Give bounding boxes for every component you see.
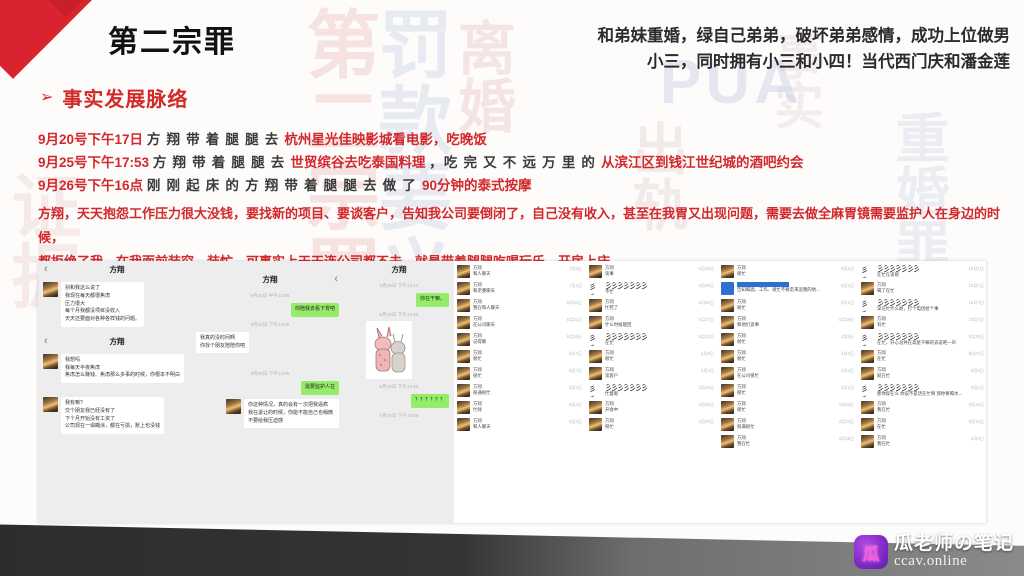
avatar bbox=[43, 282, 58, 297]
message-list-3[interactable]: 方翔很忙5月1日告知喝酒、工作、很忙不要走来追我的地...5月1日方翔很忙5月1… bbox=[718, 261, 858, 523]
timeline-middle: 刚 刚 起 床 的 方 翔 带 着 腿 腿 去 做 了 bbox=[147, 178, 422, 193]
list-item-date: 5月9日 bbox=[701, 350, 714, 357]
list-item[interactable]: 彡彡彡彡彡彡彡彡彡忙着呢4月28日 bbox=[586, 382, 718, 399]
timeline-row: 9月20号下午17日 方 翔 带 着 腿 腿 去 杭州星光佳映影城看电影，吃晚饭 bbox=[38, 128, 998, 151]
list-item-body: 方翔很忙 bbox=[737, 350, 838, 362]
list-item[interactable]: 方翔喝了在忙10月7日 bbox=[858, 280, 986, 297]
list-item[interactable]: 方翔很忙6月7日 bbox=[454, 348, 586, 365]
list-item-body: 方翔我在忙 bbox=[737, 435, 836, 447]
list-item-preview: 谈事 bbox=[605, 271, 696, 277]
list-item-body: 方翔喝了在忙 bbox=[877, 282, 966, 294]
timeline-middle: 方 翔 带 着 腿 腿 去 bbox=[153, 155, 291, 170]
list-item[interactable]: 方翔开会中4月25日 bbox=[586, 399, 718, 416]
list-item-body: 彡彡彡彡彡彡彡那你现在么 你说不是话在忙啊 那你要喝水... bbox=[877, 384, 968, 397]
list-item-body: 方翔谈事 bbox=[605, 265, 696, 277]
list-item-body: 方翔很忙 bbox=[737, 333, 838, 345]
list-item[interactable]: 方翔和老婆聊天7月1日 bbox=[454, 280, 586, 297]
list-item-date: 10月7日 bbox=[969, 282, 984, 289]
subtitle-line-2: 小三，同时拥有小三和小四！当代西门庆和潘金莲 bbox=[505, 50, 1010, 76]
avatar bbox=[457, 350, 470, 363]
list-item-preview: 早在忙什么呢，打个电话给个事 bbox=[877, 306, 966, 312]
list-item-date: 5月3日 bbox=[701, 367, 714, 374]
list-item-preview: 很忙 bbox=[737, 271, 838, 277]
list-item-body: 彡彡彡彡彡彡彡忙着呢 bbox=[605, 384, 696, 397]
section-heading: ➢ 事实发展脉络 bbox=[40, 83, 188, 112]
avatar bbox=[43, 354, 58, 369]
list-item-body: 方翔有忙 bbox=[877, 316, 966, 328]
list-item-preview: 在忙，开心总共在高星干嘛的去说吧一声 bbox=[877, 340, 966, 346]
list-item-body: 方翔在忙 bbox=[877, 350, 966, 362]
chat-screenshot-2: ‹ 方翔 9月26日 中午12:56 你陪我去看下胃吧 9月26日 下午13:0… bbox=[196, 261, 344, 523]
chat-contact-name: 方翔 bbox=[110, 264, 125, 275]
chat-header-2: ‹ 方翔 bbox=[196, 271, 344, 288]
list-item-date: 5月12日 bbox=[699, 333, 714, 340]
list-item-date: 10月1日 bbox=[969, 265, 984, 272]
list-item[interactable]: 方翔很忙6月7日 bbox=[454, 365, 586, 382]
avatar bbox=[861, 401, 874, 414]
list-item-body: 方翔记得聊 bbox=[473, 333, 564, 345]
list-item-body: 告知喝酒、工作、很忙不要走来追我的地... bbox=[737, 282, 838, 293]
chat-message: 你这种情况，真的会有一次把我逼疯 我在退让的时候，你能不能自己也稍微不要给我压迫… bbox=[226, 399, 339, 428]
message-bubble: 需要监护人在 bbox=[301, 381, 339, 395]
message-bubble: 我想吗 我每天半夜焦虑 焦虑怎么赚钱、焦虑那么多事的时候，你根本不明白 bbox=[61, 354, 184, 383]
avatar bbox=[861, 282, 874, 295]
list-item[interactable]: 方翔很忙4月1日 bbox=[718, 382, 858, 399]
chat-message: 你在干嘛。 bbox=[349, 293, 449, 307]
list-item-preview: 很忙 bbox=[737, 339, 838, 345]
list-item-preview: 很忙 bbox=[473, 356, 566, 362]
page-title: 第二宗罪 bbox=[108, 17, 236, 61]
sticker-image bbox=[366, 321, 412, 379]
list-item-body: 方翔很忙 bbox=[737, 401, 836, 413]
avatar bbox=[721, 435, 734, 448]
timeline-highlight-2: 从滨江区到钱江世纪城的酒吧约会 bbox=[601, 155, 804, 170]
list-item-date: 3月28日 bbox=[839, 401, 854, 408]
list-item-preview: 很忙 bbox=[737, 407, 836, 413]
message-timestamp: 9月26日 下午14:40 bbox=[344, 384, 454, 390]
list-item[interactable]: 方翔什么时候能回5月17日 bbox=[586, 314, 718, 331]
list-item-preview: 很忙 bbox=[605, 424, 696, 430]
list-item-preview: 我在和人聊天 bbox=[473, 305, 564, 311]
paragraph-line-1: 方翔，天天抱怨工作压力很大没钱，要找新的项目、要谈客户，告知我公司要倒闭了，自己… bbox=[38, 202, 1006, 250]
avatar bbox=[721, 367, 734, 380]
avatar bbox=[861, 367, 874, 380]
list-item[interactable]: 方翔忙死了5月22日 bbox=[586, 297, 718, 314]
avatar bbox=[721, 282, 734, 295]
slide-root: 第二宗罪 罚款要义 离婚 出轨 重婚罪 证据 事实 PUA 第二宗罪 和弟妹重婚… bbox=[0, 0, 1024, 576]
timeline-list: 9月20号下午17日 方 翔 带 着 腿 腿 去 杭州星光佳映影城看电影，吃晚饭… bbox=[38, 128, 998, 198]
list-item[interactable]: 告知喝酒、工作、很忙不要走来追我的地...5月1日 bbox=[718, 280, 858, 297]
list-item-preview: 告知喝酒、工作、很忙不要走来追我的地... bbox=[737, 287, 838, 293]
message-list-2[interactable]: 方翔谈事5月28日彡彡彡彡彡彡彡彡彡不忙5月25日方翔忙死了5月22日方翔什么时… bbox=[586, 261, 718, 523]
message-timestamp: 9月26日 下午13:06 bbox=[196, 322, 344, 328]
chat-contact-name: 方翔 bbox=[392, 264, 407, 275]
list-item-body: 彡彡彡彡彡彡彡不忙 bbox=[605, 282, 696, 295]
list-item-date: 4月25日 bbox=[699, 401, 714, 408]
list-item-date: 6月7日 bbox=[569, 350, 582, 357]
list-item-body: 彡彡彡彡彡彡彡在忙在谈呢 bbox=[877, 265, 966, 278]
avatar bbox=[457, 265, 470, 278]
avatar bbox=[721, 299, 734, 312]
avatar bbox=[589, 418, 602, 431]
avatar: 彡彡 bbox=[861, 384, 874, 397]
logo-name: 瓜老师の笔记 bbox=[894, 534, 1014, 554]
list-item-body: 方翔我在和人聊天 bbox=[473, 299, 564, 311]
arrow-bullet-icon: ➢ bbox=[40, 90, 53, 106]
list-item-date: 8月16日 bbox=[969, 401, 984, 408]
logo-text: 瓜老师の笔记 ccav.online bbox=[894, 534, 1014, 570]
avatar: 彡彡 bbox=[589, 282, 602, 295]
list-item-body: 方翔和老婆聊天 bbox=[473, 282, 566, 294]
chat-message: 我想吗 我每天半夜焦虑 焦虑怎么赚钱、焦虑那么多事的时候，你根本不明白 bbox=[43, 354, 191, 383]
diamond-shape-large bbox=[0, 0, 105, 79]
list-item-body: 彡彡彡彡彡彡彡早在忙什么呢，打个电话给个事 bbox=[877, 299, 966, 312]
avatar bbox=[721, 265, 734, 278]
list-item-body: 方翔很忙 bbox=[605, 350, 698, 362]
list-item[interactable]: 方翔谈客户5月3日 bbox=[586, 365, 718, 382]
avatar bbox=[589, 401, 602, 414]
timeline-row: 9月25号下午17:53 方 翔 带 着 腿 腿 去 世贸缤谷去吃泰国料理 ，吃… bbox=[38, 151, 998, 174]
list-item-body: 方翔很忙 bbox=[737, 299, 838, 311]
list-item[interactable]: 方翔有忙10月7日 bbox=[858, 314, 986, 331]
list-item-preview: 和人聊天 bbox=[473, 424, 566, 430]
list-item-preview: 在忙 bbox=[877, 424, 966, 430]
list-item[interactable]: 方翔我在和人聊天6月30日 bbox=[454, 297, 586, 314]
list-item[interactable]: 彡彡彡彡彡彡彡彡彡早在忙什么呢，打个电话给个事10月7日 bbox=[858, 297, 986, 314]
list-item-date: 5月28日 bbox=[699, 265, 714, 272]
list-item-date: 6月4日 bbox=[569, 384, 582, 391]
list-item-body: 方翔在忙 bbox=[877, 418, 966, 430]
list-item-body: 方翔和他们谈事 bbox=[737, 316, 836, 328]
chat-screenshot-1: ‹ 方翔 别和我这么说了 我现在每天都很焦虑 压力很大 每个月我都没项目没收入 … bbox=[38, 261, 196, 523]
list-item-body: 方翔很忙 bbox=[737, 265, 838, 277]
avatar bbox=[589, 316, 602, 329]
list-item-preview: 在公司聊天 bbox=[473, 322, 564, 328]
list-item-preview: 喝了在忙 bbox=[877, 288, 966, 294]
avatar bbox=[457, 367, 470, 380]
avatar bbox=[721, 316, 734, 329]
list-item-date: 9月1日 bbox=[971, 384, 984, 391]
list-item-date: 4月20日 bbox=[699, 418, 714, 425]
list-item-preview: 很忙 bbox=[737, 356, 838, 362]
message-bubble: 别和我这么说了 我现在每天都很焦虑 压力很大 每个月我都没项目没收入 天天还要面… bbox=[61, 282, 144, 327]
list-item-body: 方翔开会中 bbox=[605, 401, 696, 413]
avatar bbox=[721, 401, 734, 414]
list-item-date: 6月16日 bbox=[567, 333, 582, 340]
avatar bbox=[589, 265, 602, 278]
list-item-body: 方翔在公司聊天 bbox=[473, 316, 564, 328]
timeline-highlight: 杭州星光佳映影城看电影，吃晚饭 bbox=[284, 132, 487, 147]
avatar bbox=[457, 384, 470, 397]
list-item[interactable]: 彡彡彡彡彡彡彡彡彡在忙在谈呢10月1日 bbox=[858, 263, 986, 280]
avatar bbox=[861, 418, 874, 431]
list-item-body: 方翔很忙 bbox=[737, 384, 838, 396]
avatar bbox=[721, 418, 734, 431]
list-item-preview: 很满很忙 bbox=[737, 424, 836, 430]
list-item-date: 4月19日 bbox=[839, 316, 854, 323]
avatar bbox=[861, 350, 874, 363]
avatar bbox=[457, 333, 470, 346]
list-item-preview: 很通很忙 bbox=[473, 390, 566, 396]
list-item-date: 10月7日 bbox=[969, 316, 984, 323]
timeline-date: 9月25号下午17:53 bbox=[38, 155, 149, 170]
avatar bbox=[589, 299, 602, 312]
chat-contact-name: 方翔 bbox=[263, 274, 278, 285]
list-item[interactable]: 方翔忙碌6月4日 bbox=[454, 399, 586, 416]
chat-message: ？？？？？？ bbox=[349, 394, 449, 408]
avatar bbox=[457, 316, 470, 329]
list-item[interactable]: 方翔很忙5月1日 bbox=[718, 263, 858, 280]
list-item-preview: 我在忙 bbox=[877, 407, 966, 413]
chat-header-1: ‹ 方翔 bbox=[38, 261, 196, 278]
message-timestamp: 9月26日 中午12:56 bbox=[196, 293, 344, 299]
list-item[interactable]: 方翔在公司聊天6月21日 bbox=[454, 314, 586, 331]
list-item-date: 8月3日 bbox=[971, 435, 984, 442]
chat-message: 我真的没时间啊 你找个朋友陪陪你吧 bbox=[196, 332, 339, 354]
avatar bbox=[721, 333, 734, 346]
chat-message: 我有嘛? 交个朋友我已经没有了 下个月开始没有工资了 公司现在一塌糊涂，都在亏损… bbox=[43, 397, 191, 434]
list-item-preview: 就在忙 bbox=[877, 373, 968, 379]
list-item-date: 6月7日 bbox=[569, 367, 582, 374]
list-item-body: 方翔在公司很忙 bbox=[737, 367, 838, 379]
list-item[interactable]: 方翔在忙9月27日 bbox=[858, 348, 986, 365]
list-item-date: 8月10日 bbox=[969, 418, 984, 425]
list-item[interactable]: 彡彡彡彡彡彡彡彡彡不忙5月25日 bbox=[586, 280, 718, 297]
list-item-preview: 在忙在谈呢 bbox=[877, 272, 966, 278]
list-item-date: 9月9日 bbox=[971, 367, 984, 374]
avatar: 彡彡 bbox=[861, 265, 874, 278]
chat-contact-name: 方翔 bbox=[110, 336, 125, 347]
list-item[interactable]: 方翔和人聊天7月6日 bbox=[454, 263, 586, 280]
timeline-row: 9月26号下午16点 刚 刚 起 床 的 方 翔 带 着 腿 腿 去 做 了 9… bbox=[38, 174, 998, 197]
list-item-body: 方翔很忙 bbox=[605, 418, 696, 430]
list-item-date: 5月17日 bbox=[699, 316, 714, 323]
avatar bbox=[226, 399, 241, 414]
list-item-body: 方翔很满很忙 bbox=[737, 418, 836, 430]
message-list-4[interactable]: 彡彡彡彡彡彡彡彡彡在忙在谈呢10月1日方翔喝了在忙10月7日彡彡彡彡彡彡彡彡彡早… bbox=[858, 261, 986, 523]
list-item-preview: 那你现在么 你说不是话在忙啊 那你要喝水... bbox=[877, 391, 968, 397]
avatar bbox=[457, 282, 470, 295]
list-item-body: 方翔什么时候能回 bbox=[605, 316, 696, 328]
list-item-preview: 谈客户 bbox=[605, 373, 698, 379]
list-item-body: 彡彡彡彡彡彡彡在忙，开心总共在高星干嘛的去说吧一声 bbox=[877, 333, 966, 346]
page-subtitle: 和弟妹重婚，绿自己弟弟，破坏弟弟感情，成功上位做男 小三，同时拥有小三和小四！当… bbox=[505, 24, 1010, 75]
list-item-date: 7月1日 bbox=[569, 282, 582, 289]
list-item-body: 彡彡彡彡彡彡彡在忙 bbox=[605, 333, 696, 346]
logo-url: ccav.online bbox=[894, 554, 1014, 570]
list-item-preview: 和老婆聊天 bbox=[473, 288, 566, 294]
list-item[interactable]: 方翔和人聊天6月4日 bbox=[454, 416, 586, 433]
message-timestamp: 9月26日 下午13:06 bbox=[196, 371, 344, 377]
timeline-tail: ，吃 完 又 不 远 万 里 的 bbox=[429, 155, 601, 170]
message-timestamp: 9月26日 下午14:40 bbox=[344, 312, 454, 318]
avatar bbox=[457, 418, 470, 431]
avatar bbox=[861, 316, 874, 329]
chat-message: 需要监护人在 bbox=[201, 381, 339, 395]
message-bubble: ？？？？？？ bbox=[411, 394, 449, 408]
list-item-body: 方翔和人聊天 bbox=[473, 265, 566, 277]
list-item-preview: 和他们谈事 bbox=[737, 322, 836, 328]
avatar: 彡彡 bbox=[861, 333, 874, 346]
list-item-preview: 很忙 bbox=[737, 390, 838, 396]
timeline-highlight: 世贸缤谷去吃泰国料理 bbox=[290, 155, 425, 170]
background-watermark-text: 离婚 bbox=[452, 18, 510, 134]
list-item[interactable]: 方翔我在忙8月16日 bbox=[858, 399, 986, 416]
list-item-date: 6月4日 bbox=[569, 401, 582, 408]
message-bubble: 你陪我去看下胃吧 bbox=[291, 303, 339, 317]
list-item[interactable]: 方翔很忙5月9日 bbox=[586, 348, 718, 365]
back-chevron-icon[interactable]: ‹ bbox=[44, 335, 48, 347]
list-item-preview: 我在忙 bbox=[877, 441, 968, 447]
list-item-preview: 记得聊 bbox=[473, 339, 564, 345]
list-item-date: 3月19日 bbox=[839, 435, 854, 442]
list-item[interactable]: 方翔谈事5月28日 bbox=[586, 263, 718, 280]
list-item-date: 4月3日 bbox=[841, 350, 854, 357]
list-item-preview: 忙碌 bbox=[473, 407, 566, 413]
list-item[interactable]: 彡彡彡彡彡彡彡彡彡那你现在么 你说不是话在忙啊 那你要喝水...9月1日 bbox=[858, 382, 986, 399]
timeline-highlight: 90分钟的泰式按摩 bbox=[422, 178, 532, 193]
list-item[interactable]: 彡彡彡彡彡彡彡彡彡在忙5月12日 bbox=[586, 331, 718, 348]
avatar bbox=[589, 367, 602, 380]
list-item-date: 9月27日 bbox=[969, 350, 984, 357]
list-item-preview: 什么时候能回 bbox=[605, 322, 696, 328]
list-item[interactable]: 方翔很忙4月20日 bbox=[586, 416, 718, 433]
message-bubble: 我有嘛? 交个朋友我已经没有了 下个月开始没有工资了 公司现在一塌糊涂，都在亏损… bbox=[61, 397, 164, 434]
evidence-card: ‹ 方翔 别和我这么说了 我现在每天都很焦虑 压力很大 每个月我都没项目没收入 … bbox=[38, 261, 986, 523]
message-bubble: 我真的没时间啊 你找个朋友陪陪你吧 bbox=[196, 332, 249, 354]
list-item-preview: 很忙 bbox=[737, 305, 838, 311]
list-item[interactable]: 方翔很忙5月1日 bbox=[718, 297, 858, 314]
message-timestamp: 9月26日 下午15:06 bbox=[344, 413, 454, 419]
list-item-preview: 开会中 bbox=[605, 407, 696, 413]
list-item-body: 方翔忙碌 bbox=[473, 401, 566, 413]
message-bubble: 你这种情况，真的会有一次把我逼疯 我在退让的时候，你能不能自己也稍微不要给我压迫… bbox=[244, 399, 339, 428]
list-item-body: 方翔很忙 bbox=[473, 350, 566, 362]
back-chevron-icon[interactable]: ‹ bbox=[44, 263, 48, 275]
message-timestamp: 9月26日 下午13:14 bbox=[344, 283, 454, 289]
list-item[interactable]: 方翔很忙4月3日 bbox=[718, 348, 858, 365]
list-item-preview: 忙着呢 bbox=[605, 391, 696, 397]
list-item-body: 方翔我在忙 bbox=[877, 401, 966, 413]
avatar bbox=[721, 384, 734, 397]
chat-screenshot-3: 方翔 9月26日 下午13:14 你在干嘛。 9月26日 下午14:40 bbox=[344, 261, 454, 523]
timeline-date: 9月26号下午16点 bbox=[38, 178, 143, 193]
list-item-body: 方翔就在忙 bbox=[877, 367, 968, 379]
list-item-date: 7月6日 bbox=[569, 265, 582, 272]
list-item-body: 方翔谈客户 bbox=[605, 367, 698, 379]
section-heading-label: 事实发展脉络 bbox=[62, 83, 188, 112]
list-item[interactable]: 方翔很满很忙3月22日 bbox=[718, 416, 858, 433]
list-item-preview: 很忙 bbox=[605, 356, 698, 362]
list-item-date: 4月1日 bbox=[841, 384, 854, 391]
list-item-date: 5月1日 bbox=[841, 299, 854, 306]
list-item-date: 10月7日 bbox=[969, 299, 984, 306]
avatar bbox=[457, 401, 470, 414]
list-item[interactable]: 方翔和他们谈事4月19日 bbox=[718, 314, 858, 331]
chat-header-1b: ‹ 方翔 bbox=[38, 333, 196, 350]
list-item-preview: 很忙 bbox=[473, 373, 566, 379]
avatar: 彡彡 bbox=[589, 384, 602, 397]
list-item-date: 6月30日 bbox=[567, 299, 582, 306]
avatar bbox=[43, 397, 58, 412]
list-item-body: 方翔忙死了 bbox=[605, 299, 696, 311]
list-item-date: 4月28日 bbox=[699, 384, 714, 391]
chat-message: 你陪我去看下胃吧 bbox=[201, 303, 339, 317]
list-item[interactable]: 彡彡彡彡彡彡彡彡彡在忙，开心总共在高星干嘛的去说吧一声9月30日 bbox=[858, 331, 986, 348]
list-item[interactable]: 方翔很通很忙6月4日 bbox=[454, 382, 586, 399]
list-item-date: 4月2日 bbox=[841, 367, 854, 374]
timeline-middle: 方 翔 带 着 腿 腿 去 bbox=[147, 132, 285, 147]
message-list-1[interactable]: 方翔和人聊天7月6日方翔和老婆聊天7月1日方翔我在和人聊天6月30日方翔在公司聊… bbox=[454, 261, 586, 523]
avatar bbox=[861, 435, 874, 448]
rabbit-drawing-icon bbox=[369, 324, 409, 376]
list-item-body: 方翔很忙 bbox=[473, 367, 566, 379]
list-item[interactable]: 方翔我在忙3月19日 bbox=[718, 433, 858, 450]
list-item-preview: 不忙 bbox=[605, 289, 696, 295]
message-bubble: 你在干嘛。 bbox=[416, 293, 449, 307]
list-item[interactable]: 方翔在公司很忙4月2日 bbox=[718, 365, 858, 382]
list-item-preview: 忙死了 bbox=[605, 305, 696, 311]
list-item[interactable]: 方翔很忙3月28日 bbox=[718, 399, 858, 416]
avatar: 彡彡 bbox=[861, 299, 874, 312]
list-item[interactable]: 方翔很忙4月6日 bbox=[718, 331, 858, 348]
channel-watermark: 瓜 瓜老师の笔记 ccav.online bbox=[854, 534, 1014, 570]
avatar bbox=[589, 350, 602, 363]
list-item-date: 5月1日 bbox=[841, 265, 854, 272]
back-chevron-icon[interactable]: ‹ bbox=[334, 273, 338, 285]
list-item-preview: 有忙 bbox=[877, 322, 966, 328]
list-item-date: 6月4日 bbox=[569, 418, 582, 425]
list-item-date: 3月22日 bbox=[839, 418, 854, 425]
list-item-preview: 在忙 bbox=[877, 356, 966, 362]
chat-message: 别和我这么说了 我现在每天都很焦虑 压力很大 每个月我都没项目没收入 天天还要面… bbox=[43, 282, 191, 327]
list-item-date: 4月6日 bbox=[841, 333, 854, 340]
list-item[interactable]: 方翔就在忙9月9日 bbox=[858, 365, 986, 382]
list-item-date: 5月25日 bbox=[699, 282, 714, 289]
list-item-body: 方翔我在忙 bbox=[877, 435, 968, 447]
avatar bbox=[457, 299, 470, 312]
avatar: 彡彡 bbox=[589, 333, 602, 346]
chat-header-3: 方翔 bbox=[344, 261, 454, 278]
list-item-date: 9月30日 bbox=[969, 333, 984, 340]
list-item[interactable]: 方翔记得聊6月16日 bbox=[454, 331, 586, 348]
list-item-preview: 我在忙 bbox=[737, 441, 836, 447]
list-item-body: 方翔很通很忙 bbox=[473, 384, 566, 396]
subtitle-line-1: 和弟妹重婚，绿自己弟弟，破坏弟弟感情，成功上位做男 bbox=[505, 24, 1010, 50]
list-item-date: 5月1日 bbox=[841, 282, 854, 289]
avatar bbox=[721, 350, 734, 363]
timeline-date: 9月20号下午17日 bbox=[38, 132, 143, 147]
list-item[interactable]: 方翔我在忙8月3日 bbox=[858, 433, 986, 450]
logo-badge-icon: 瓜 bbox=[854, 535, 888, 569]
list-item[interactable]: 方翔在忙8月10日 bbox=[858, 416, 986, 433]
list-item-body: 方翔和人聊天 bbox=[473, 418, 566, 430]
list-item-date: 5月22日 bbox=[699, 299, 714, 306]
list-item-preview: 在公司很忙 bbox=[737, 373, 838, 379]
list-item-date: 6月21日 bbox=[567, 316, 582, 323]
list-item-preview: 和人聊天 bbox=[473, 271, 566, 277]
list-item-preview: 在忙 bbox=[605, 340, 696, 346]
